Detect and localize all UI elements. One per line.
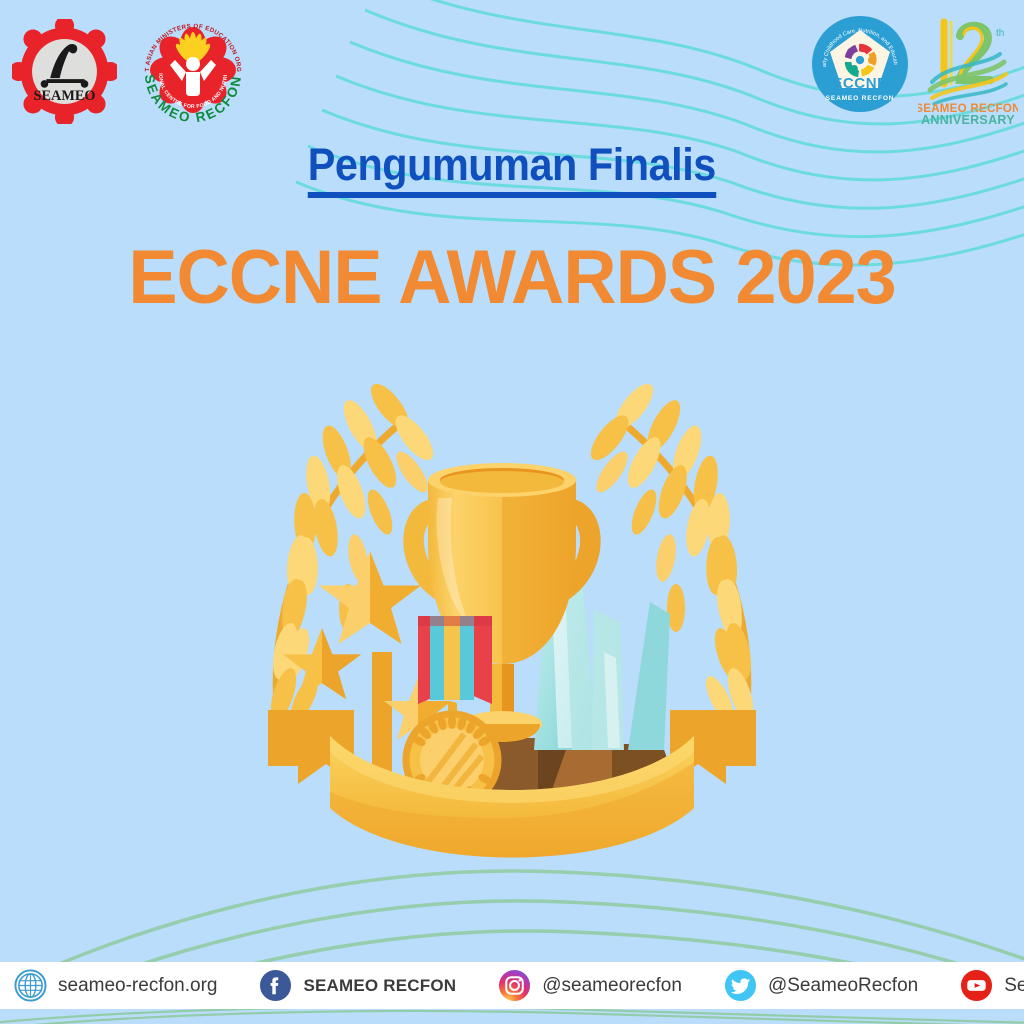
poster-subtitle: Pengumuman Finalis xyxy=(308,140,716,198)
footer-bottom-strip xyxy=(0,1009,1024,1024)
facebook-icon xyxy=(259,969,292,1002)
footer-label-facebook: SEAMEO RECFON xyxy=(303,976,456,996)
footer-item-facebook[interactable]: SEAMEO RECFON xyxy=(259,969,456,1002)
eccne-logo: ECCNE SEAMEO RECFON Early Childhood Care… xyxy=(810,14,910,114)
anniversary-logo: th SEAMEO RECFON ANNIVERSARY xyxy=(918,14,1018,126)
footer-item-twitter[interactable]: @SeameoRecfon xyxy=(724,969,918,1002)
footer-item-instagram[interactable]: @seameorecfon xyxy=(498,969,682,1002)
title-block: Pengumuman Finalis ECCNE AWARDS 2023 xyxy=(0,140,1024,316)
footer-label-instagram: @seameorecfon xyxy=(542,975,682,997)
footer-label-website: seameo-recfon.org xyxy=(58,975,217,997)
eccne-logo-subtitle: SEAMEO RECFON xyxy=(826,95,895,102)
anniversary-line2: ANNIVERSARY xyxy=(921,113,1015,126)
header-logos-left: SEAMEO xyxy=(12,14,253,129)
poster-canvas: SEAMEO xyxy=(0,0,1024,1024)
seameo-recfon-logo: SOUTHEAST ASIAN MINISTERS OF EDUCATION O… xyxy=(133,14,253,129)
instagram-icon xyxy=(498,969,531,1002)
seameo-logo-text: SEAMEO xyxy=(34,88,96,104)
seameo-logo: SEAMEO xyxy=(12,19,117,124)
footer-social-bar: seameo-recfon.org SEAMEO RECFON xyxy=(0,962,1024,1009)
eccne-logo-title: ECCNE xyxy=(832,75,888,92)
globe-icon xyxy=(14,969,47,1002)
footer-item-website[interactable]: seameo-recfon.org xyxy=(14,969,217,1002)
anniversary-ordinal: th xyxy=(996,28,1004,39)
twitter-icon xyxy=(724,969,757,1002)
header-logos-right: ECCNE SEAMEO RECFON Early Childhood Care… xyxy=(810,14,1018,126)
footer-label-youtube: Seameo Recfon xyxy=(1004,975,1024,997)
footer-label-twitter: @SeameoRecfon xyxy=(768,975,918,997)
poster-title: ECCNE AWARDS 2023 xyxy=(15,240,1008,316)
footer-item-youtube[interactable]: Seameo Recfon xyxy=(960,969,1024,1002)
youtube-icon xyxy=(960,969,993,1002)
awards-trophy-illustration xyxy=(252,352,772,882)
